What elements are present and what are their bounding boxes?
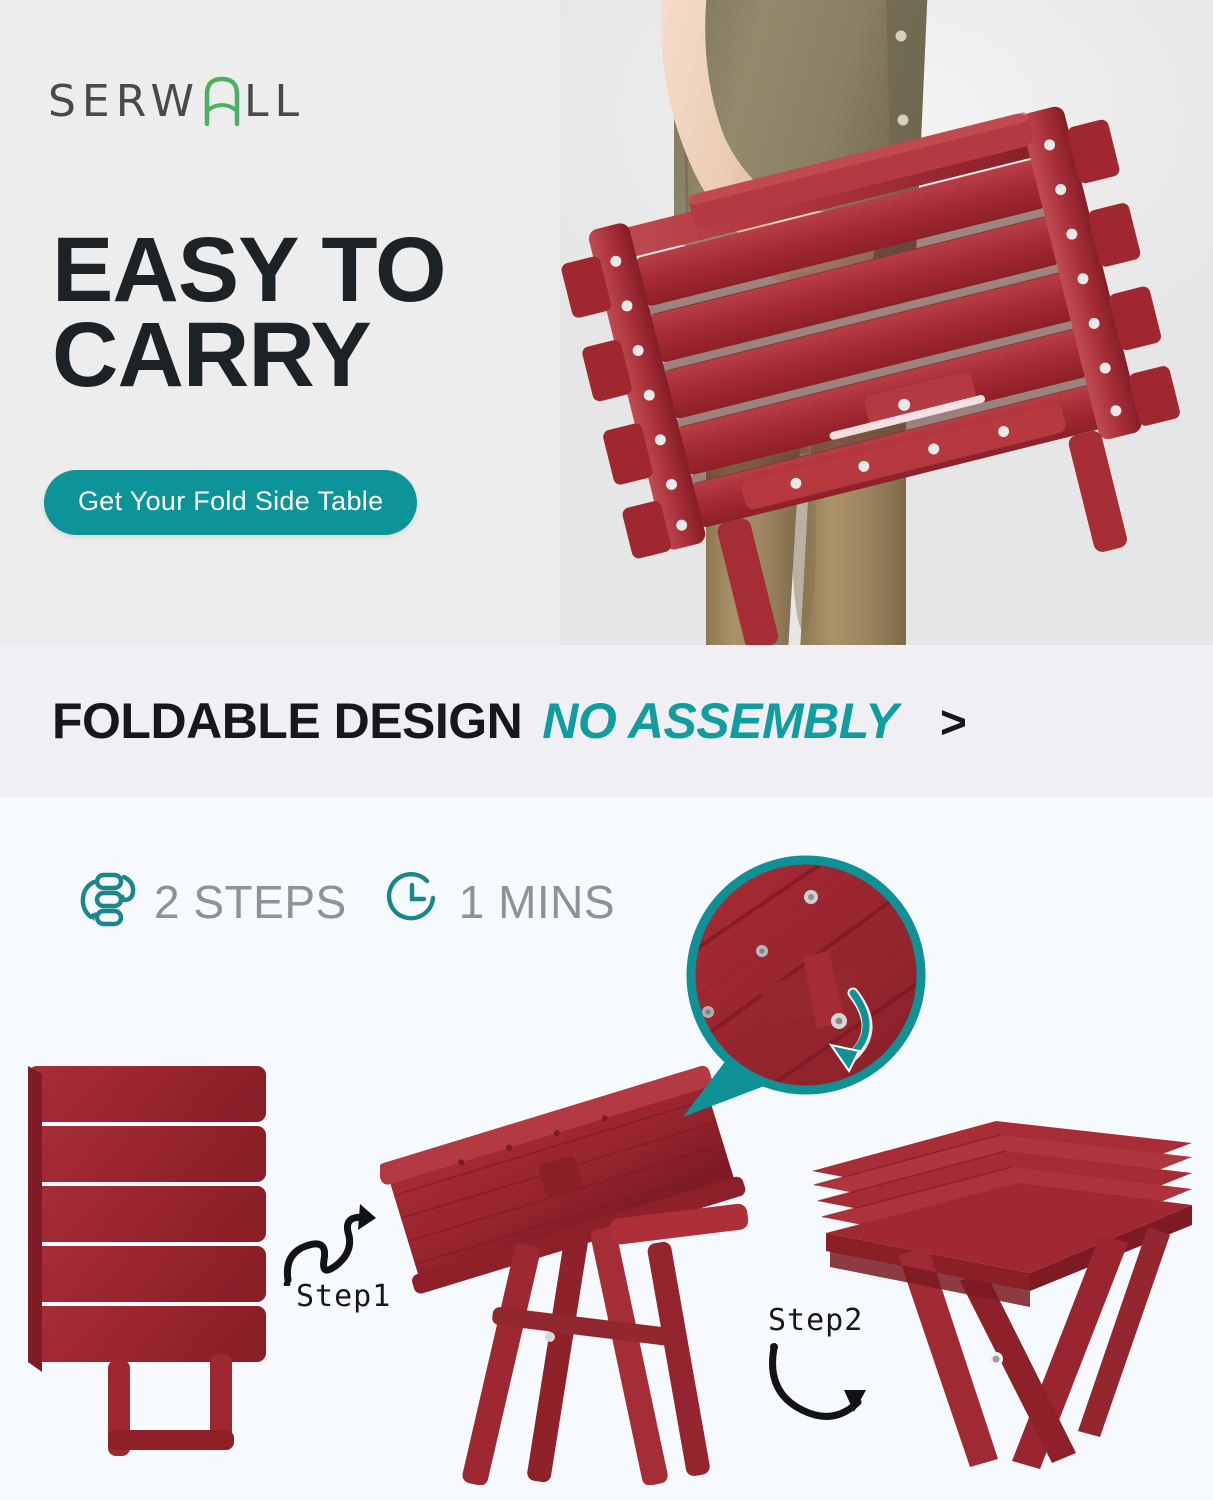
time-estimate-label: 1 MINS [459,875,615,929]
foldable-design-banner: FOLDABLE DESIGN NO ASSEMBLY > [0,645,1213,797]
step1-arrow-icon [274,1198,394,1286]
hero-section: SERW LL EASY TO CARRY Get Your Fold Side… [0,0,1213,645]
hero-headline: EASY TO CARRY [52,228,446,397]
meta-info-row: 2 STEPS 1 MINS [76,868,615,935]
step1-label: Step1 [296,1279,391,1314]
chevron-right-icon: > [940,699,967,745]
banner-accent-text: NO ASSEMBLY [542,692,898,750]
table-folded-illustration [20,1060,280,1460]
clock-icon [381,868,443,935]
meta-item-steps: 2 STEPS [76,868,347,935]
step2-arrow-icon [762,1340,892,1432]
logo-text-part2: LL [244,80,305,124]
headline-line-2: CARRY [52,313,446,398]
steps-count-label: 2 STEPS [154,875,347,929]
banner-content: FOLDABLE DESIGN NO ASSEMBLY > [0,692,967,750]
logo-text-part1: SERW [48,80,200,124]
cta-button[interactable]: Get Your Fold Side Table [44,470,417,535]
meta-item-time: 1 MINS [381,868,615,935]
step2-label: Step2 [768,1303,863,1338]
banner-primary-text: FOLDABLE DESIGN [52,692,522,750]
hinge-zoom-callout [663,845,963,1135]
steps-flow-icon [76,868,138,935]
hero-product-photo [556,0,1213,645]
brand-logo[interactable]: SERW LL [48,68,305,124]
logo-arch-icon [202,76,242,124]
